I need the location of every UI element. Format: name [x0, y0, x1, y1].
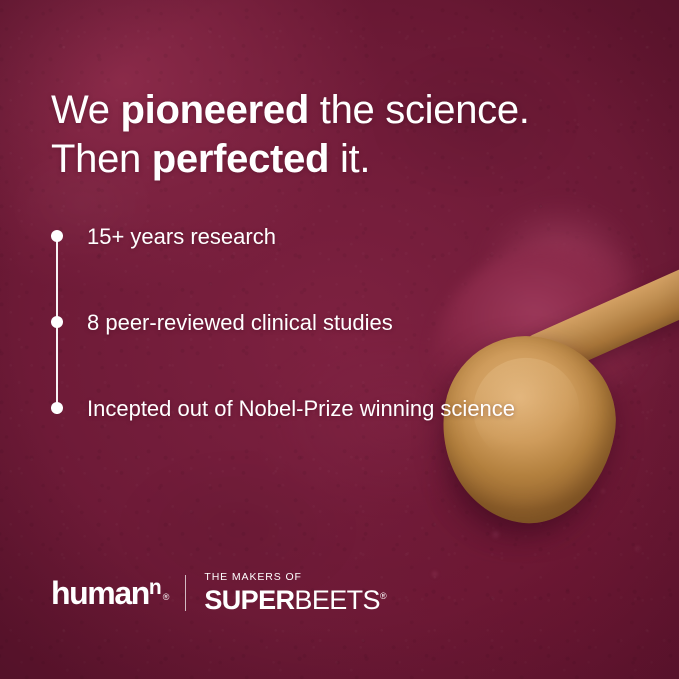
- headline-line-1-bold: pioneered: [121, 88, 309, 132]
- headline-line-2-post: it.: [329, 137, 370, 181]
- superbeets-eyebrow: THE MAKERS OF: [204, 572, 386, 583]
- promotional-image: We pioneered the science. Then perfected…: [0, 0, 679, 679]
- humann-wordmark: human: [51, 577, 149, 609]
- brand-footer: humann® THE MAKERS OF SUPERBEETS®: [51, 572, 387, 614]
- logo-divider: [185, 575, 186, 611]
- timeline-dot-icon: [51, 230, 63, 242]
- headline-line-2-pre: Then: [51, 137, 152, 181]
- superbeets-registered-mark: ®: [380, 591, 387, 601]
- headline-line-1-post: the science.: [309, 88, 530, 132]
- humann-registered-mark: ®: [163, 593, 170, 602]
- superbeets-logo: THE MAKERS OF SUPERBEETS®: [204, 572, 386, 614]
- headline-line-2: Then perfected it.: [51, 135, 651, 184]
- list-item: Incepted out of Nobel-Prize winning scie…: [51, 394, 631, 480]
- overlay-content: We pioneered the science. Then perfected…: [0, 0, 679, 679]
- headline-line-1-pre: We: [51, 88, 121, 132]
- headline-line-2-bold: perfected: [152, 137, 329, 181]
- superbeets-wordmark: SUPERBEETS®: [204, 587, 386, 614]
- timeline-item-label: 8 peer-reviewed clinical studies: [87, 308, 631, 337]
- list-item: 8 peer-reviewed clinical studies: [51, 308, 631, 394]
- timeline-item-label: 15+ years research: [87, 222, 631, 251]
- superbeets-super: SUPER: [204, 585, 294, 615]
- headline-line-1: We pioneered the science.: [51, 86, 651, 135]
- timeline-list: 15+ years research 8 peer-reviewed clini…: [51, 222, 631, 480]
- timeline-item-label: Incepted out of Nobel-Prize winning scie…: [87, 394, 631, 423]
- timeline-dot-icon: [51, 316, 63, 328]
- humann-superscript-n: n: [149, 577, 161, 598]
- superbeets-beets: BEETS: [294, 585, 380, 615]
- timeline-dot-icon: [51, 402, 63, 414]
- headline: We pioneered the science. Then perfected…: [51, 86, 651, 184]
- humann-logo: humann®: [51, 577, 167, 609]
- list-item: 15+ years research: [51, 222, 631, 308]
